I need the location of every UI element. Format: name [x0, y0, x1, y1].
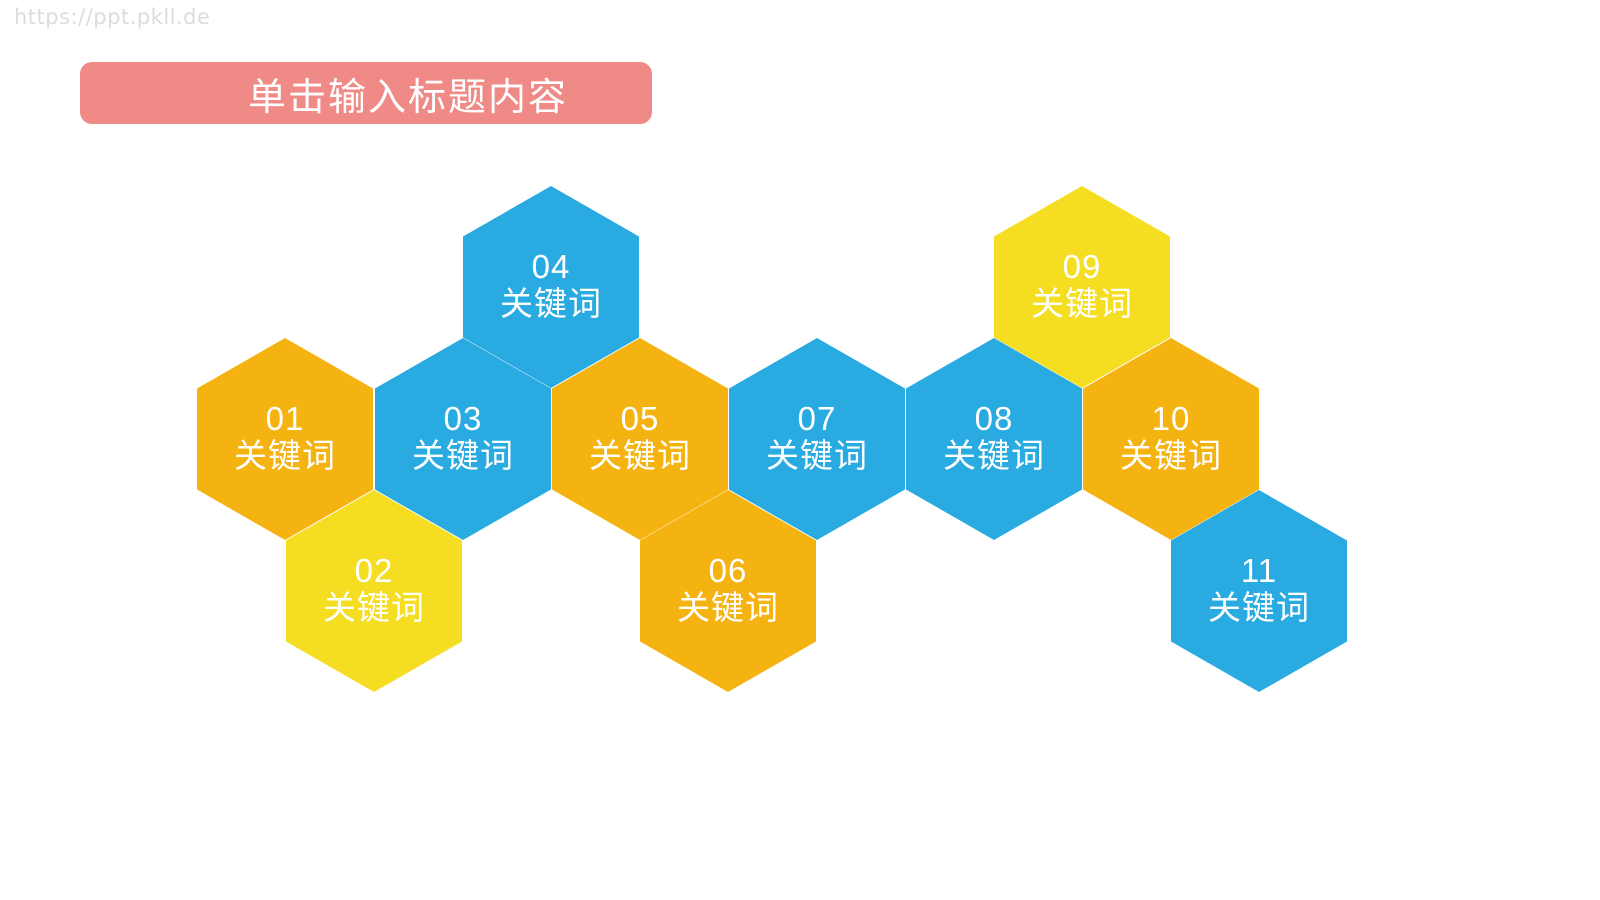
hexagon-label: 关键词: [1120, 437, 1222, 476]
hexagon-label: 关键词: [412, 437, 514, 476]
hexagon-label: 关键词: [1031, 285, 1133, 324]
hexagon-number: 10: [1152, 402, 1191, 437]
hexagon-diagram: 01关键词02关键词03关键词04关键词05关键词06关键词07关键词08关键词…: [0, 0, 1600, 900]
hexagon-number: 08: [975, 402, 1014, 437]
hexagon-label: 关键词: [1208, 589, 1310, 628]
hexagon-label: 关键词: [766, 437, 868, 476]
hexagon-label: 关键词: [943, 437, 1045, 476]
hexagon-number: 03: [444, 402, 483, 437]
hexagon-number: 11: [1241, 554, 1277, 589]
hexagon-label: 关键词: [589, 437, 691, 476]
hexagon-number: 02: [355, 554, 394, 589]
hexagon-label: 关键词: [500, 285, 602, 324]
hexagon-number: 01: [266, 402, 305, 437]
hexagon-number: 09: [1063, 250, 1102, 285]
hexagon-number: 05: [621, 402, 660, 437]
hexagon-number: 06: [709, 554, 748, 589]
hexagon-label: 关键词: [234, 437, 336, 476]
hexagon-label: 关键词: [323, 589, 425, 628]
hexagon-label: 关键词: [677, 589, 779, 628]
hexagon-number: 04: [532, 250, 571, 285]
hexagon-number: 07: [798, 402, 837, 437]
